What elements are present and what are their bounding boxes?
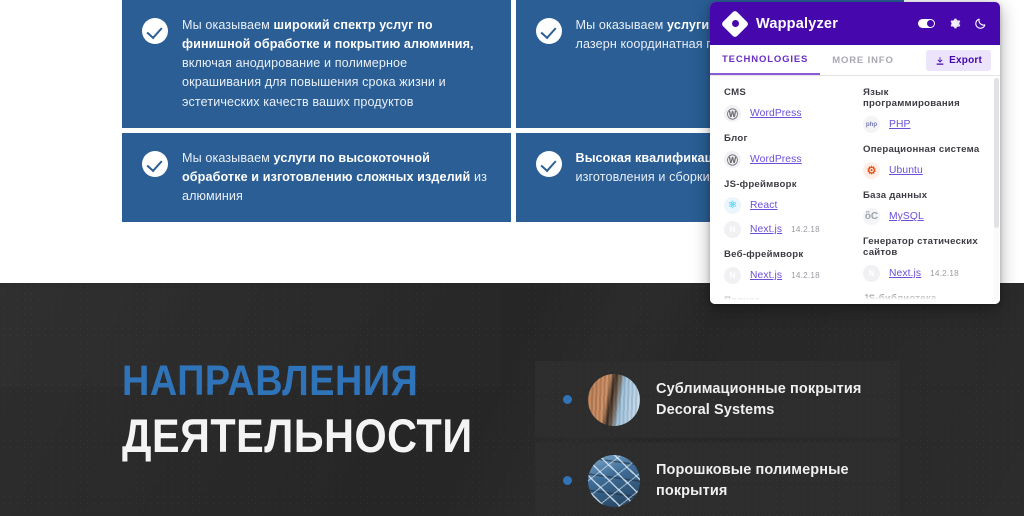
technology-category-block: Прочее [724, 295, 847, 304]
activity-direction-item[interactable]: Сублимационные покрытия Decoral Systems [535, 361, 900, 438]
technology-link[interactable]: Ubuntu [889, 165, 923, 176]
check-circle-icon [142, 151, 168, 177]
sublimation-coating-thumb [588, 374, 640, 426]
technology-link[interactable]: PHP [889, 119, 910, 130]
wappalyzer-header: Wappalyzer [710, 2, 1000, 45]
activity-direction-list: Сублимационные покрытия Decoral SystemsП… [535, 361, 900, 516]
technology-row[interactable]: NNext.js14.2.18 [724, 221, 847, 238]
wordpress-icon: Ⓦ [724, 105, 741, 122]
technology-row[interactable]: ὂCMySQL [863, 208, 986, 225]
activity-heading: НАПРАВЛЕНИЯ ДЕЯТЕЛЬНОСТИ [122, 360, 520, 459]
technology-category-block: База данныхὂCMySQL [863, 190, 986, 225]
activity-direction-label: Сублимационные покрытия Decoral Systems [656, 379, 900, 420]
tab-more-info[interactable]: MORE INFO [820, 45, 905, 75]
technology-category-block: CMSⓌWordPress [724, 87, 847, 122]
technologies-right-column: Язык программированияphpPHPОперационная … [863, 87, 986, 304]
technology-link[interactable]: WordPress [750, 154, 802, 165]
technology-link[interactable]: Next.js [750, 224, 782, 235]
nextjs-icon: N [724, 267, 741, 284]
technology-row[interactable]: NNext.js14.2.18 [724, 267, 847, 284]
wappalyzer-title: Wappalyzer [756, 16, 909, 32]
technology-row[interactable]: phpPHP [863, 116, 986, 133]
technology-category-label: Операционная система [863, 144, 986, 155]
download-icon [935, 56, 945, 66]
check-circle-icon [142, 18, 168, 44]
feature-card-text: Мы оказываем услуги по высокоточной обра… [182, 149, 489, 206]
technology-category-label: Язык программирования [863, 87, 986, 109]
technology-category-block: JS-библиотека◔Swiper [863, 293, 986, 304]
activity-direction-item[interactable]: Порошковые полимерные покрытия [535, 442, 900, 516]
technology-row[interactable]: ⚛React [724, 197, 847, 214]
technology-version: 14.2.18 [930, 269, 959, 278]
check-circle-icon [536, 18, 562, 44]
feature-card-text: Мы оказываем широкий спектр услуг по фин… [182, 16, 489, 112]
feature-finishing: Мы оказываем широкий спектр услуг по фин… [122, 0, 511, 128]
technology-category-label: JS-библиотека [863, 293, 986, 304]
technology-category-label: База данных [863, 190, 986, 201]
technology-version: 14.2.18 [791, 271, 820, 280]
wordpress-icon: Ⓦ [724, 151, 741, 168]
technology-category-label: Блог [724, 133, 847, 144]
powder-coating-thumb [588, 455, 640, 507]
wappalyzer-tabbar: TECHNOLOGIES MORE INFO Export [710, 45, 1000, 76]
technology-category-block: JS-фреймворк⚛ReactNNext.js14.2.18 [724, 179, 847, 238]
mysql-icon: ὂC [863, 208, 880, 225]
nextjs-icon: N [863, 265, 880, 282]
check-circle-icon [536, 151, 562, 177]
technology-link[interactable]: React [750, 200, 777, 211]
technology-category-block: Генератор статических сайтовNNext.js14.2… [863, 236, 986, 282]
ubuntu-icon: ⚙ [863, 162, 880, 179]
feature-precision: Мы оказываем услуги по высокоточной обра… [122, 133, 511, 222]
power-toggle-switch[interactable] [918, 19, 935, 28]
technology-category-label: Прочее [724, 295, 847, 304]
technology-category-block: Веб-фреймворкNNext.js14.2.18 [724, 249, 847, 284]
technology-category-block: БлогⓌWordPress [724, 133, 847, 168]
site-activity-section: НАПРАВЛЕНИЯ ДЕЯТЕЛЬНОСТИ Сублимационные … [0, 283, 1024, 516]
technology-version: 14.2.18 [791, 225, 820, 234]
activity-heading-line2: ДЕЯТЕЛЬНОСТИ [122, 412, 473, 459]
popup-scrollbar-thumb[interactable] [994, 78, 999, 228]
technology-category-block: Язык программированияphpPHP [863, 87, 986, 133]
php-icon: php [863, 116, 880, 133]
technology-link[interactable]: Next.js [750, 270, 782, 281]
export-button[interactable]: Export [926, 50, 991, 71]
react-icon: ⚛ [724, 197, 741, 214]
activity-direction-label: Порошковые полимерные покрытия [656, 460, 900, 501]
activity-heading-line1: НАПРАВЛЕНИЯ [122, 360, 473, 403]
technology-category-label: Генератор статических сайтов [863, 236, 986, 258]
bullet-icon [563, 395, 572, 404]
technologies-list[interactable]: CMSⓌWordPressБлогⓌWordPressJS-фреймворк⚛… [710, 76, 1000, 304]
technology-category-block: Операционная система⚙Ubuntu [863, 144, 986, 179]
wappalyzer-popup: Wappalyzer TECHNOLOGIES MORE INFO [710, 2, 1000, 304]
technology-row[interactable]: ⓌWordPress [724, 105, 847, 122]
technology-category-label: JS-фреймворк [724, 179, 847, 190]
wappalyzer-logo-icon [723, 12, 747, 36]
tab-technologies[interactable]: TECHNOLOGIES [710, 45, 820, 75]
technologies-left-column: CMSⓌWordPressБлогⓌWordPressJS-фреймворк⚛… [724, 87, 847, 304]
moon-icon[interactable] [974, 17, 987, 30]
technology-link[interactable]: MySQL [889, 211, 924, 222]
technology-category-label: CMS [724, 87, 847, 98]
gear-icon[interactable] [948, 17, 961, 30]
nextjs-icon: N [724, 221, 741, 238]
wappalyzer-header-actions [918, 17, 987, 30]
technology-row[interactable]: ⚙Ubuntu [863, 162, 986, 179]
technology-row[interactable]: NNext.js14.2.18 [863, 265, 986, 282]
technology-link[interactable]: WordPress [750, 108, 802, 119]
technology-row[interactable]: ⓌWordPress [724, 151, 847, 168]
page-root: Мы оказываем широкий спектр услуг по фин… [0, 0, 1024, 516]
technology-link[interactable]: Next.js [889, 268, 921, 279]
export-button-label: Export [949, 55, 982, 66]
technology-category-label: Веб-фреймворк [724, 249, 847, 260]
bullet-icon [563, 476, 572, 485]
